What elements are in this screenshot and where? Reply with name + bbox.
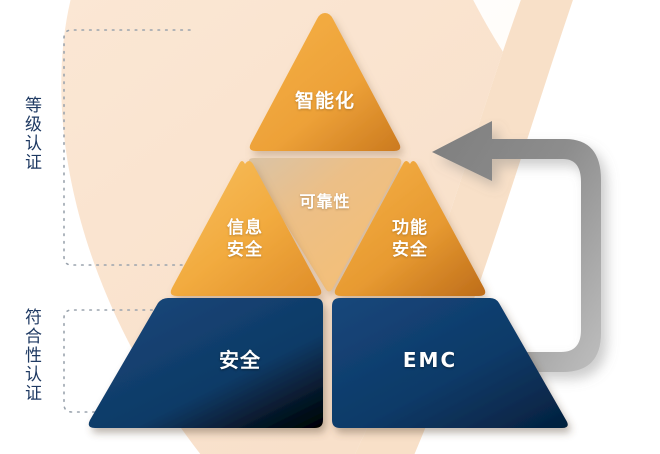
- bracket-label-grade: 等级认证: [22, 96, 39, 172]
- pyramid-diagram-svg: [0, 0, 660, 454]
- bracket-label-compliance: 符合性认证: [22, 308, 39, 403]
- diagram-canvas: 等级认证 符合性认证 智能化 可靠性 信息 安全 功能 安全 安全 EMC: [0, 0, 660, 454]
